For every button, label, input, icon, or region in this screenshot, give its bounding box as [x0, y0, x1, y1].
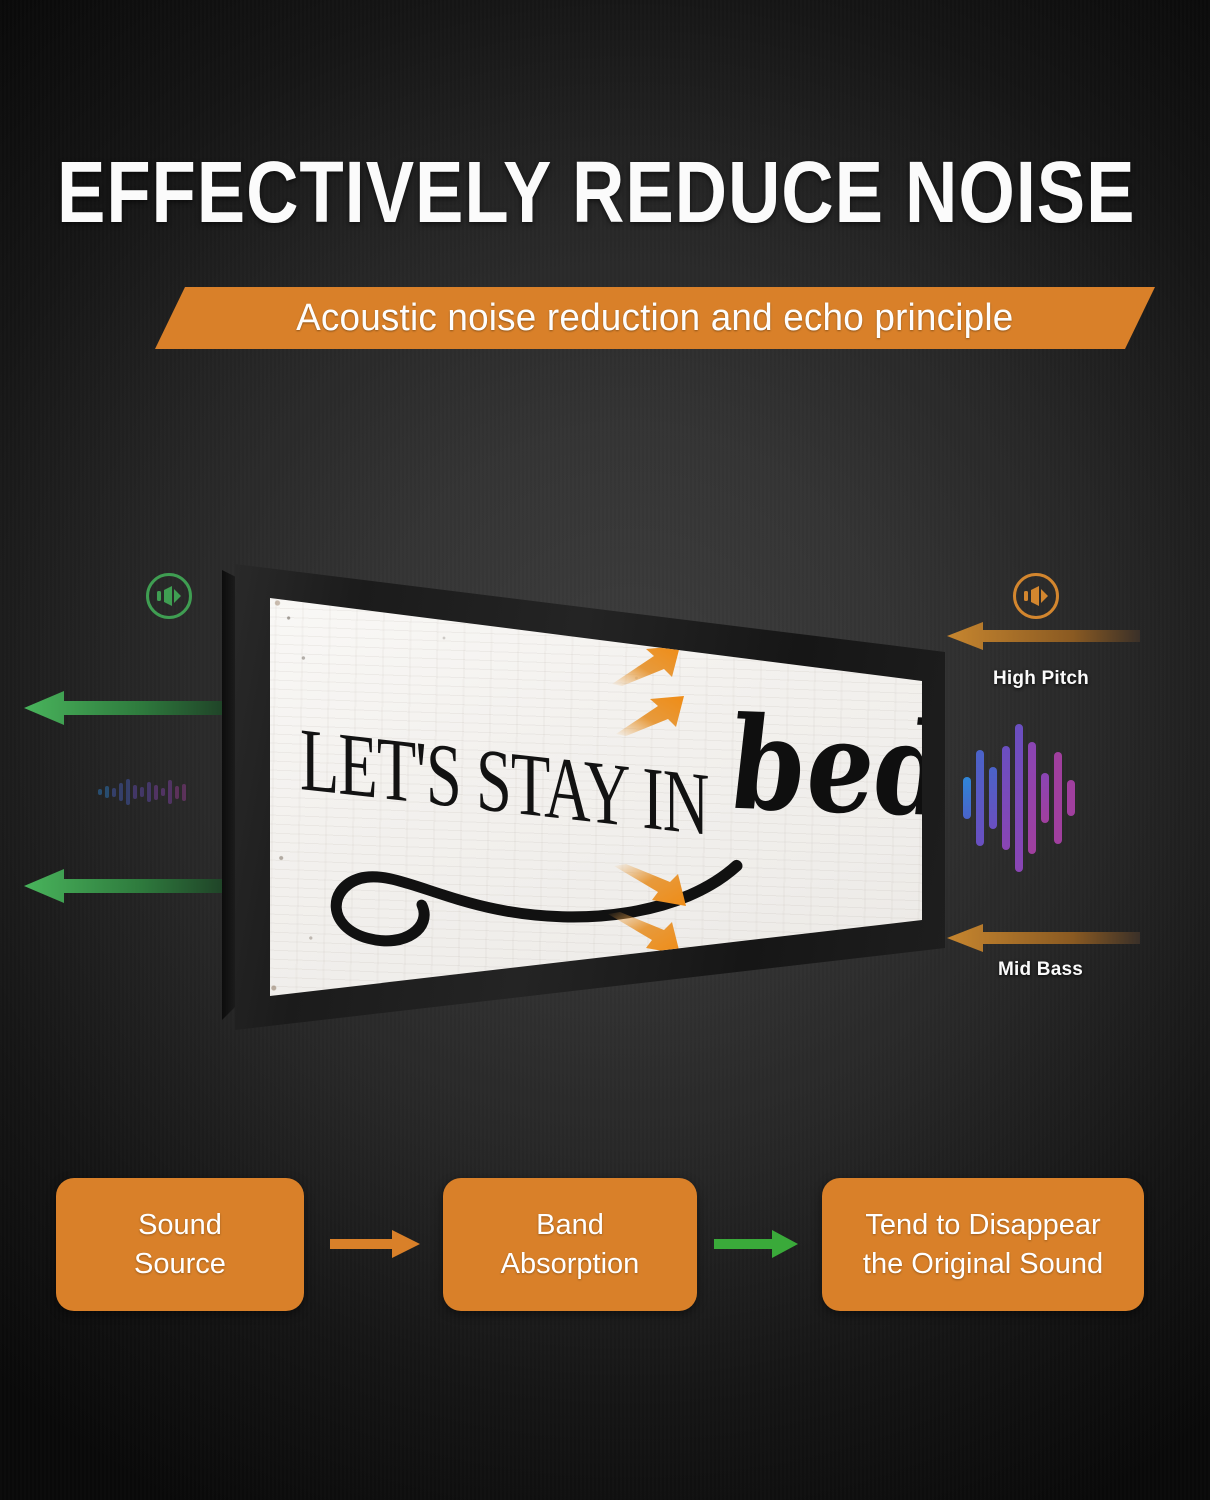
- reduced-sound-arrow-top: [22, 690, 237, 726]
- waveform-right: [963, 718, 1081, 878]
- waveform-bar: [963, 777, 971, 819]
- waveform-bar: [1041, 773, 1049, 823]
- high-pitch-arrow: [945, 620, 1140, 652]
- flow-step-line2: Absorption: [501, 1245, 640, 1283]
- speaker-glyph: [156, 586, 182, 606]
- waveform-bar: [1067, 780, 1075, 816]
- waveform-bar: [133, 785, 137, 799]
- high-pitch-label: High Pitch: [993, 668, 1089, 690]
- waveform-bar: [989, 767, 997, 829]
- flow-step-line1: Band: [536, 1206, 604, 1244]
- flow-diagram: Sound Source Band Absorption Tend to Dis…: [0, 1175, 1210, 1325]
- flow-step-band-absorption: Band Absorption: [443, 1178, 697, 1311]
- flow-step-disappear: Tend to Disappear the Original Sound: [822, 1178, 1144, 1311]
- subtitle-text: Acoustic noise reduction and echo princi…: [296, 297, 1013, 340]
- product-sign: LET'S STAY IN bed: [222, 548, 962, 1048]
- sign-arrow-down-1: [612, 864, 690, 908]
- waveform-bar: [126, 779, 130, 805]
- sign-arrow-up-1: [610, 644, 685, 686]
- waveform-bar: [976, 750, 984, 846]
- infographic-canvas: EFFECTIVELY REDUCE NOISE Acoustic noise …: [0, 0, 1210, 1500]
- flow-step-line2: Source: [134, 1245, 226, 1283]
- waveform-left: [98, 762, 218, 822]
- waveform-bar: [1028, 742, 1036, 854]
- waveform-bar: [161, 788, 165, 796]
- waveform-bar: [175, 786, 179, 799]
- waveform-bar: [147, 782, 151, 802]
- waveform-bar: [98, 789, 102, 795]
- waveform-bar: [168, 780, 172, 804]
- flow-step-line1: Tend to Disappear: [865, 1206, 1100, 1244]
- flow-step-line1: Sound: [138, 1206, 222, 1244]
- flow-step-line2: the Original Sound: [863, 1245, 1103, 1283]
- subtitle-banner: Acoustic noise reduction and echo princi…: [155, 287, 1155, 349]
- waveform-bar: [182, 784, 186, 801]
- waveform-bar: [1015, 724, 1023, 872]
- flow-step-sound-source: Sound Source: [56, 1178, 304, 1311]
- waveform-bar: [140, 787, 144, 797]
- sign-arrow-up-2: [614, 694, 689, 736]
- mid-bass-label: Mid Bass: [998, 959, 1083, 981]
- speaker-orange-icon: [1013, 573, 1059, 619]
- waveform-bar: [1002, 746, 1010, 850]
- page-title: EFFECTIVELY REDUCE NOISE: [57, 148, 987, 235]
- speaker-green-icon: [146, 573, 192, 619]
- speaker-glyph: [1023, 586, 1049, 606]
- mid-bass-arrow: [945, 922, 1140, 954]
- sign-text-script: bed: [727, 700, 953, 836]
- waveform-bar: [105, 786, 109, 798]
- waveform-bar: [154, 785, 158, 800]
- waveform-bar: [119, 783, 123, 801]
- flow-arrow-green: [714, 1227, 800, 1261]
- waveform-bar: [112, 788, 116, 797]
- flow-arrow-orange: [330, 1227, 422, 1261]
- reduced-sound-arrow-bottom: [22, 868, 237, 904]
- waveform-bar: [1054, 752, 1062, 844]
